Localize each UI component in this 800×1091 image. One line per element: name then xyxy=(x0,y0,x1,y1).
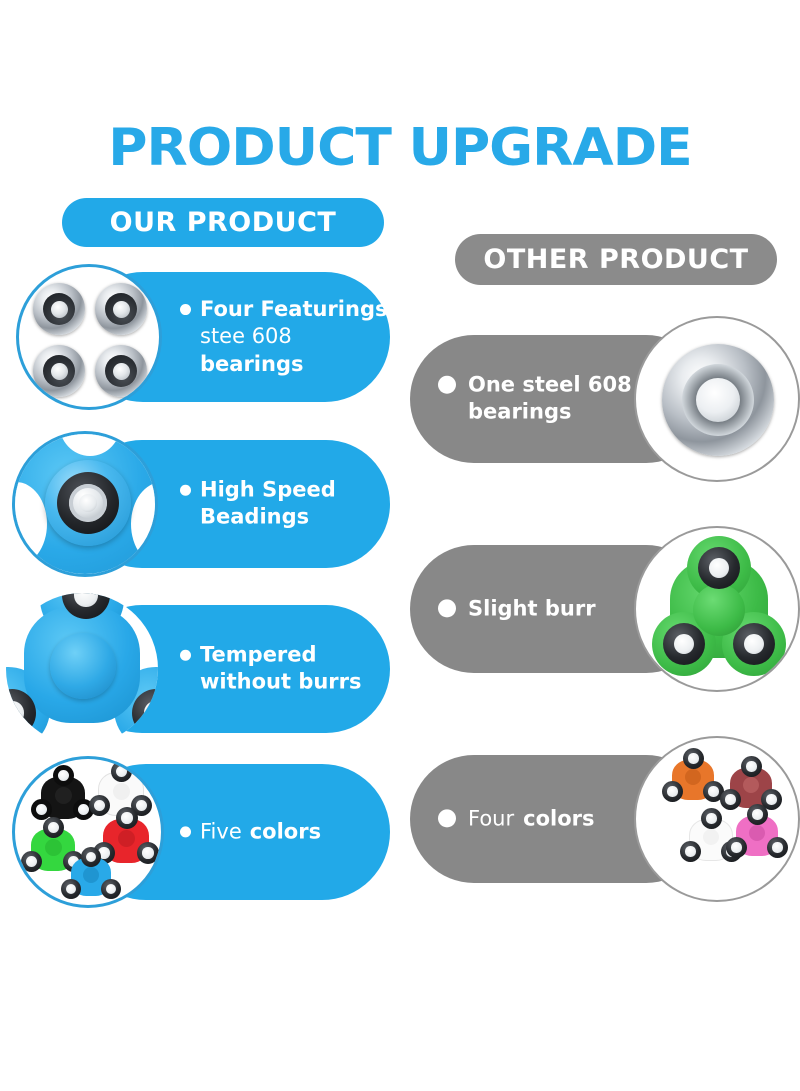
bullet-icon xyxy=(438,599,456,617)
blue-tri-spinner-image xyxy=(6,593,158,745)
other-feature-row-colors: Fourcolors xyxy=(410,755,800,883)
bullet-icon xyxy=(180,650,191,661)
bullet-icon xyxy=(438,809,456,827)
feature-line-2: without burrs xyxy=(200,670,362,694)
feature-text: Fivecolors xyxy=(180,818,390,845)
feature-line-3: bearings xyxy=(200,352,303,376)
bullet-icon xyxy=(180,826,191,837)
feature-line-1: Five xyxy=(200,819,242,843)
feature-line-1: Tempered xyxy=(200,643,317,667)
our-feature-row-colors: Fivecolors xyxy=(8,764,390,900)
feature-text: Four Featurings stee 608 bearings xyxy=(180,296,390,378)
our-feature-row-speed: High Speed Beadings xyxy=(8,440,390,568)
bullet-icon xyxy=(180,304,191,315)
feature-text: Fourcolors xyxy=(438,805,638,832)
feature-line-2: colors xyxy=(523,806,594,830)
our-feature-row-bearings: Four Featurings stee 608 bearings xyxy=(8,272,390,402)
four-ball-bearings-image xyxy=(16,264,162,410)
feature-line-2: colors xyxy=(250,819,321,843)
other-product-badge: OTHER PRODUCT xyxy=(455,234,777,285)
bullet-icon xyxy=(180,485,191,496)
four-color-spinners-image xyxy=(634,736,800,902)
our-product-badge-label: OUR PRODUCT xyxy=(110,207,337,238)
feature-text: High Speed Beadings xyxy=(180,477,390,532)
feature-text: Slight burr xyxy=(438,595,638,622)
feature-text: One steel 608 bearings xyxy=(438,372,638,427)
feature-line-1: Four xyxy=(468,806,514,830)
bullet-icon xyxy=(438,375,456,393)
feature-line-1: High Speed xyxy=(200,478,336,502)
feature-line-1: Four Featurings xyxy=(200,297,387,321)
feature-line-2: stee 608 xyxy=(200,324,292,348)
product-upgrade-infographic: PRODUCT UPGRADE OUR PRODUCT OTHER PRODUC… xyxy=(0,0,800,1091)
feature-line-1: Slight burr xyxy=(468,596,596,620)
our-feature-row-tempered: Tempered without burrs xyxy=(8,605,390,733)
green-tri-spinner-image xyxy=(634,526,800,692)
other-product-badge-label: OTHER PRODUCT xyxy=(483,244,748,275)
other-feature-row-bearings: One steel 608 bearings xyxy=(410,335,800,463)
our-product-badge: OUR PRODUCT xyxy=(62,198,384,247)
feature-line-2: Beadings xyxy=(200,505,309,529)
other-feature-row-burr: Slight burr xyxy=(410,545,800,673)
single-ball-bearing-image xyxy=(634,316,800,482)
feature-text: Tempered without burrs xyxy=(180,642,390,697)
feature-line-1: One steel 608 xyxy=(468,373,632,397)
five-color-spinners-image xyxy=(12,756,164,908)
page-title: PRODUCT UPGRADE xyxy=(0,118,800,178)
feature-line-2: bearings xyxy=(468,400,571,424)
blue-spinner-bearing-closeup-image xyxy=(12,431,158,577)
